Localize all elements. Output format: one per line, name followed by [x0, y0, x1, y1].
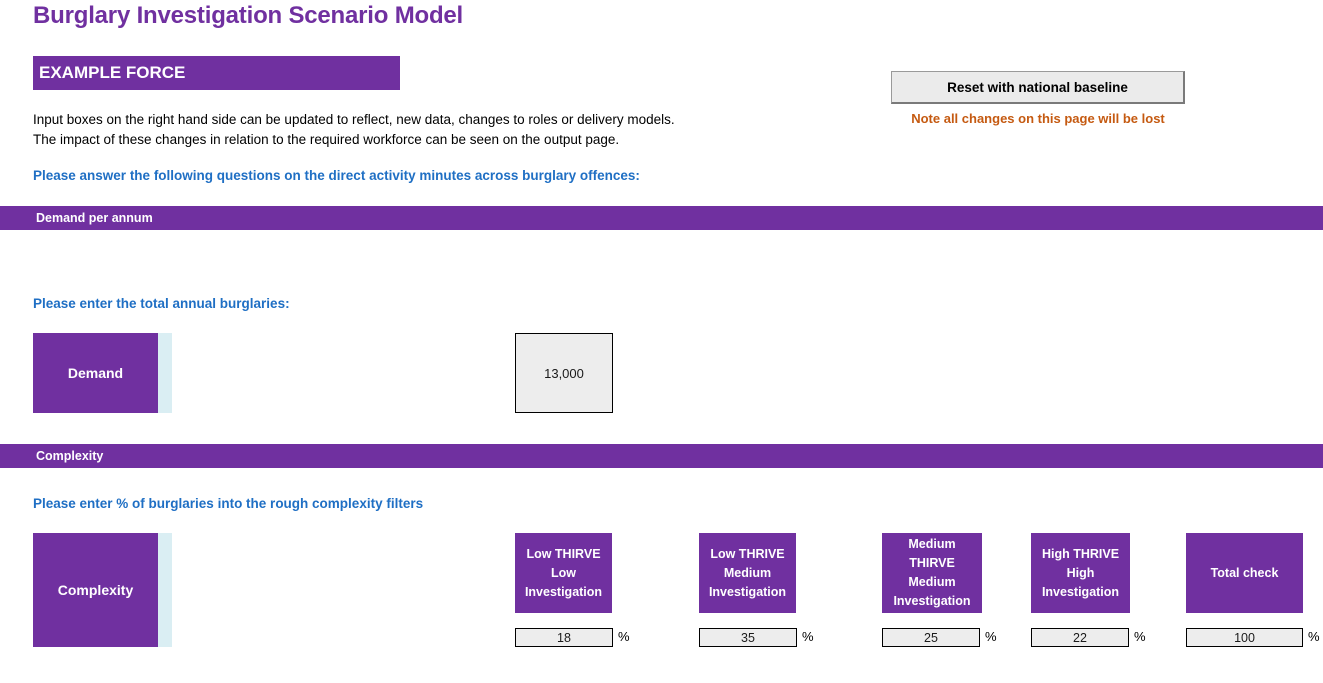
complexity-row-label: Complexity [33, 533, 158, 647]
intro-line-1: Input boxes on the right hand side can b… [33, 110, 773, 130]
complexity-percent-input[interactable]: 25 [882, 628, 980, 647]
complexity-total-check-value: 100 [1186, 628, 1303, 647]
intro-line-2: The impact of these changes in relation … [33, 130, 773, 150]
page-title: Burglary Investigation Scenario Model [33, 2, 463, 30]
complexity-prompt: Please enter % of burglaries into the ro… [33, 496, 423, 511]
complexity-total-check-header: Total check [1186, 533, 1303, 613]
demand-row-label: Demand [33, 333, 158, 413]
reset-with-national-baseline-button[interactable]: Reset with national baseline [891, 71, 1185, 104]
percent-sign-label: % [802, 629, 814, 644]
complexity-percent-input[interactable]: 35 [699, 628, 797, 647]
complexity-column-header: High THRIVE High Investigation [1031, 533, 1130, 613]
percent-sign-label: % [618, 629, 630, 644]
complexity-percent-input[interactable]: 18 [515, 628, 613, 647]
main-question-prompt: Please answer the following questions on… [33, 168, 640, 183]
section-header-complexity: Complexity [0, 444, 1323, 468]
force-name-banner: EXAMPLE FORCE [33, 56, 400, 90]
complexity-column-header: Medium THIRVE Medium Investigation [882, 533, 982, 613]
demand-value-input[interactable]: 13,000 [515, 333, 613, 413]
reset-warning-note: Note all changes on this page will be lo… [886, 111, 1190, 126]
demand-row-accent-strip [158, 333, 172, 413]
complexity-column-header: Low THRIVE Medium Investigation [699, 533, 796, 613]
percent-sign-label: % [985, 629, 997, 644]
complexity-row-accent-strip [158, 533, 172, 647]
spreadsheet-page: Burglary Investigation Scenario Model EX… [0, 0, 1323, 683]
complexity-percent-input[interactable]: 22 [1031, 628, 1129, 647]
section-header-demand: Demand per annum [0, 206, 1323, 230]
percent-sign-label: % [1134, 629, 1146, 644]
percent-sign-label: % [1308, 629, 1320, 644]
demand-prompt: Please enter the total annual burglaries… [33, 296, 290, 311]
complexity-column-header: Low THIRVE Low Investigation [515, 533, 612, 613]
intro-paragraph: Input boxes on the right hand side can b… [33, 110, 773, 150]
